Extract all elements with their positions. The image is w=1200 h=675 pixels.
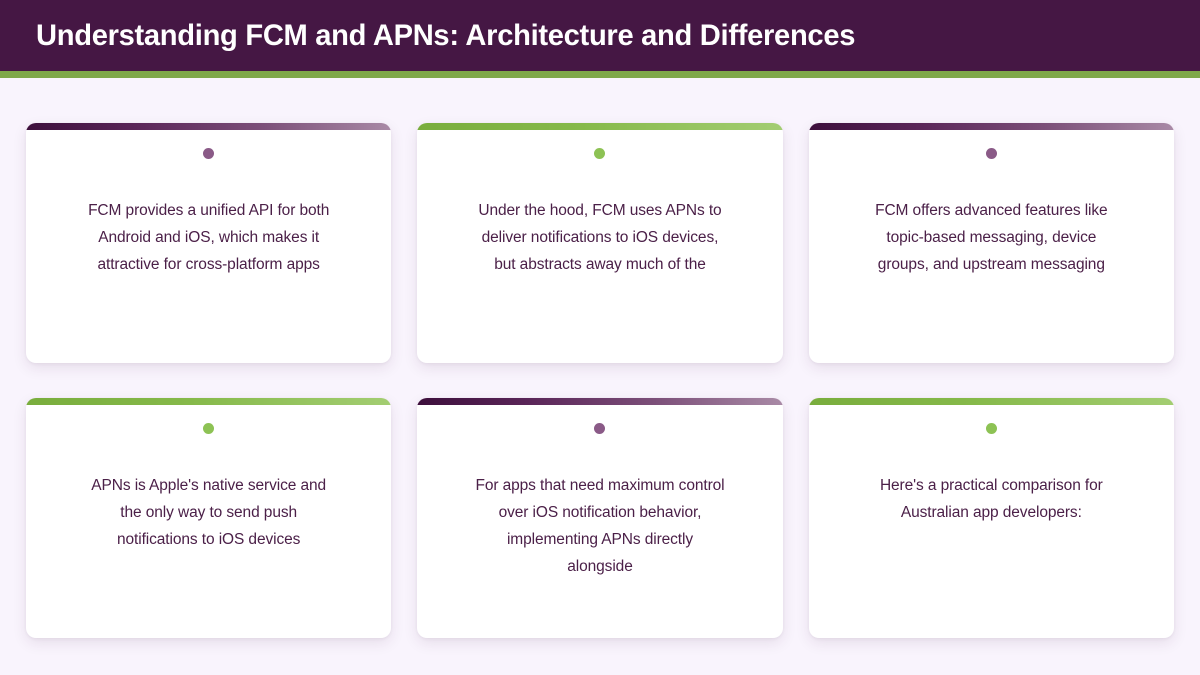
card-text: APNs is Apple's native service and the o… [56, 472, 361, 553]
info-card[interactable]: FCM provides a unified API for both Andr… [26, 123, 391, 363]
page-title: Understanding FCM and APNs: Architecture… [36, 19, 855, 52]
card-dot-icon [594, 148, 605, 159]
card-text: FCM provides a unified API for both Andr… [56, 197, 361, 278]
card-dot-icon [203, 148, 214, 159]
card-accent-bar [26, 123, 391, 130]
card-dot-icon [594, 423, 605, 434]
card-text: Under the hood, FCM uses APNs to deliver… [447, 197, 752, 278]
info-card[interactable]: Under the hood, FCM uses APNs to deliver… [417, 123, 782, 363]
card-accent-bar [26, 398, 391, 405]
card-text: Here's a practical comparison for Austra… [839, 472, 1144, 526]
card-dot-icon [986, 148, 997, 159]
card-dot-icon [203, 423, 214, 434]
card-text: For apps that need maximum control over … [447, 472, 752, 580]
info-card[interactable]: Here's a practical comparison for Austra… [809, 398, 1174, 638]
card-text: FCM offers advanced features like topic-… [839, 197, 1144, 278]
card-accent-bar [417, 398, 782, 405]
info-card[interactable]: APNs is Apple's native service and the o… [26, 398, 391, 638]
info-card[interactable]: For apps that need maximum control over … [417, 398, 782, 638]
info-card[interactable]: FCM offers advanced features like topic-… [809, 123, 1174, 363]
card-accent-bar [809, 398, 1174, 405]
card-accent-bar [809, 123, 1174, 130]
card-accent-bar [417, 123, 782, 130]
card-grid: FCM provides a unified API for both Andr… [0, 78, 1200, 638]
page-header: Understanding FCM and APNs: Architecture… [0, 0, 1200, 78]
card-dot-icon [986, 423, 997, 434]
